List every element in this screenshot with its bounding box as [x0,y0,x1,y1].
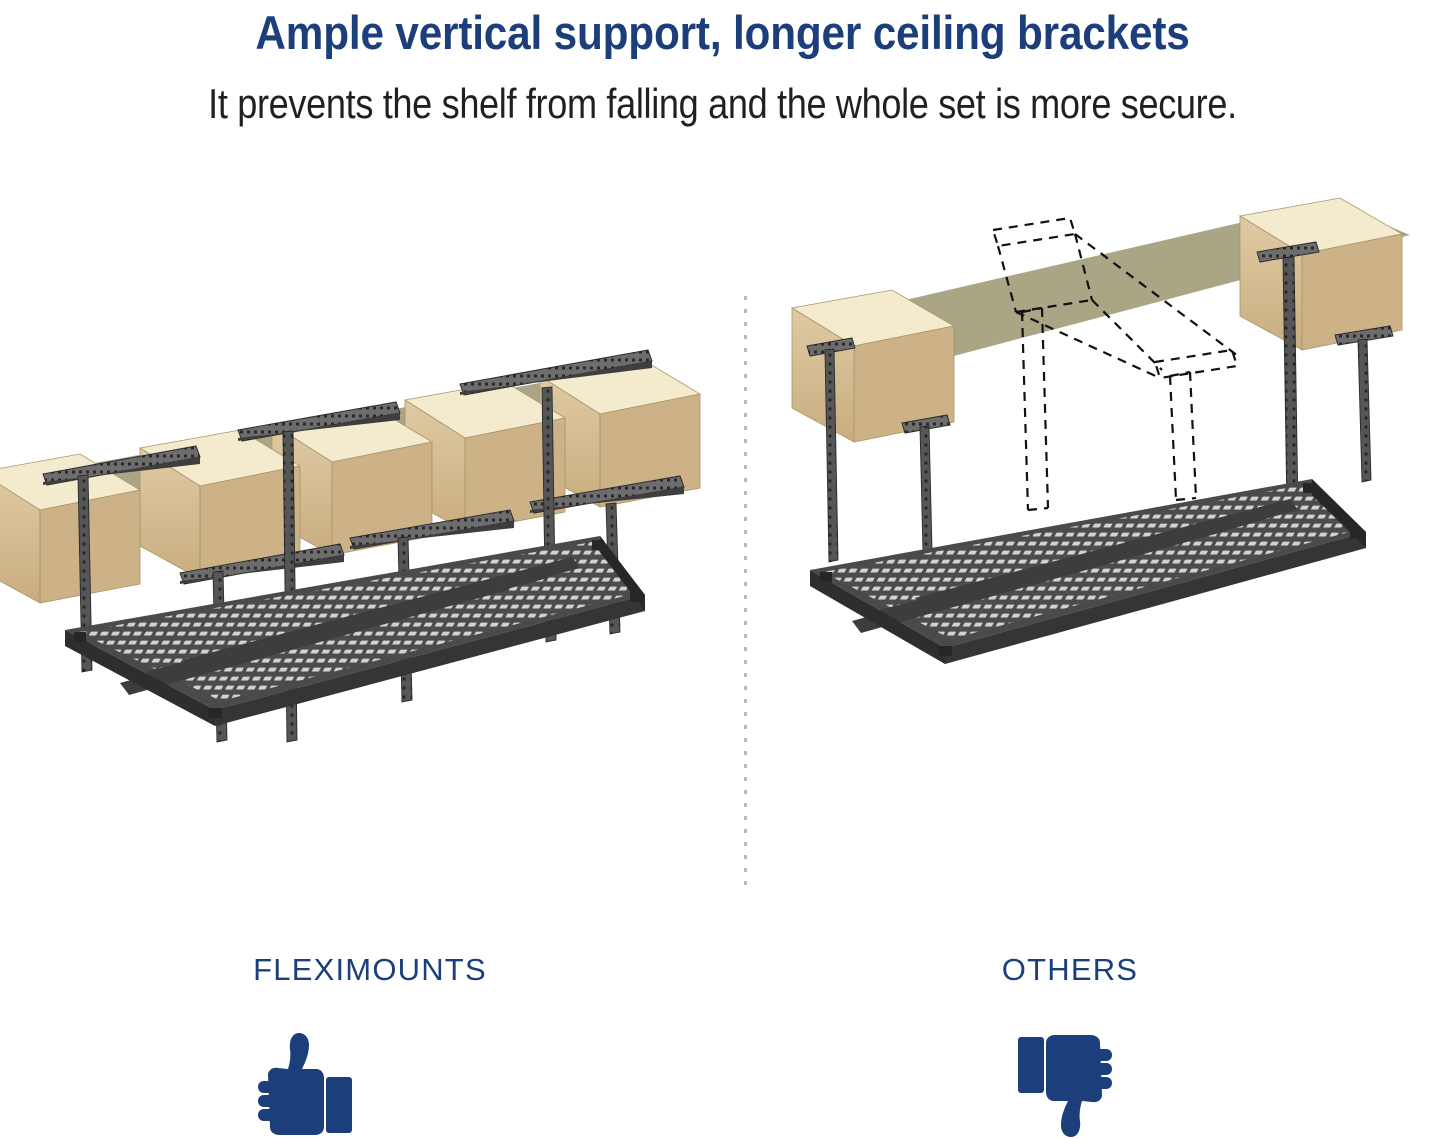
fleximounts-illustration [0,180,720,880]
thumbs-down-icon [1000,1025,1140,1139]
storage-rack-platform [810,479,1366,664]
brand-label-fleximounts: FLEXIMOUNTS [60,952,680,988]
page-title: Ample vertical support, longer ceiling b… [72,4,1373,62]
thumbs-up-icon [230,1025,370,1139]
ceiling-joist [1240,198,1402,350]
storage-rack-platform [65,536,645,726]
infographic-page: Ample vertical support, longer ceiling b… [0,0,1445,1139]
others-illustration [770,180,1445,880]
header: Ample vertical support, longer ceiling b… [0,0,1445,150]
vertical-support-post [1358,339,1371,482]
page-subtitle: It prevents the shelf from falling and t… [101,78,1344,130]
brand-label-others: OTHERS [790,952,1350,988]
vertical-dotted-divider [744,296,747,892]
